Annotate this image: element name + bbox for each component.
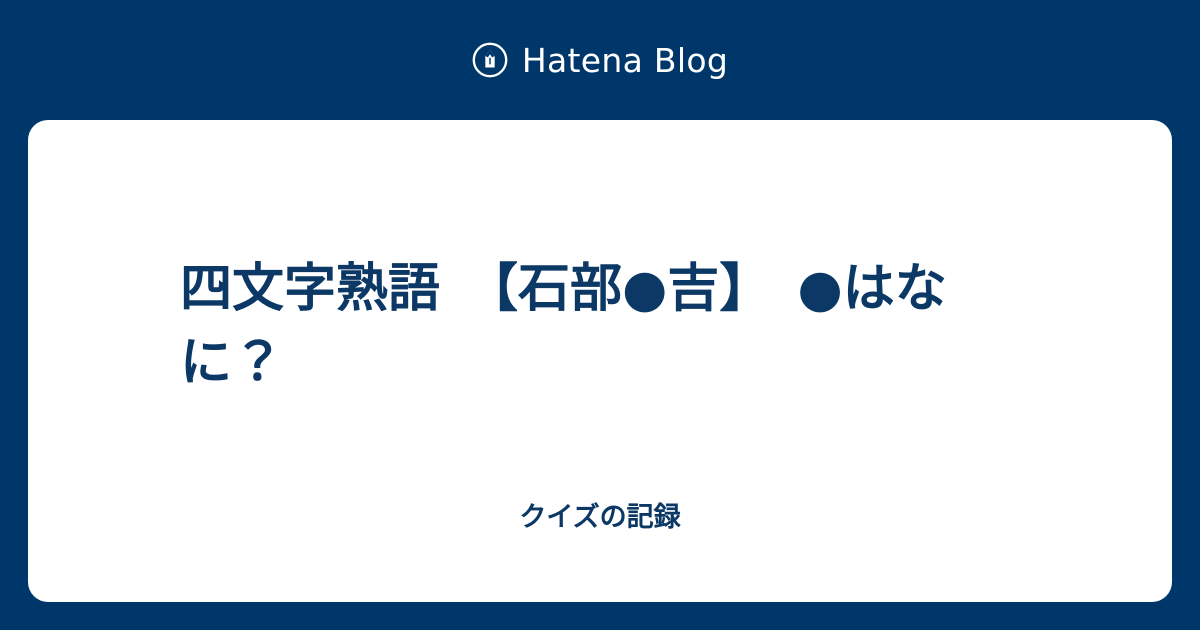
hatena-blog-wordmark: Hatena Blog xyxy=(522,44,728,77)
entry-card: 四文字熟語 【石部●吉】 ●はなに？ クイズの記録 xyxy=(28,120,1172,602)
ogp-card: Hatena Blog 四文字熟語 【石部●吉】 ●はなに？ クイズの記録 xyxy=(0,0,1200,630)
hatena-pen-nib-icon xyxy=(472,42,508,78)
entry-title: 四文字熟語 【石部●吉】 ●はなに？ xyxy=(180,253,1020,401)
blog-name: クイズの記録 xyxy=(28,500,1172,535)
brand-header: Hatena Blog xyxy=(0,0,1200,120)
